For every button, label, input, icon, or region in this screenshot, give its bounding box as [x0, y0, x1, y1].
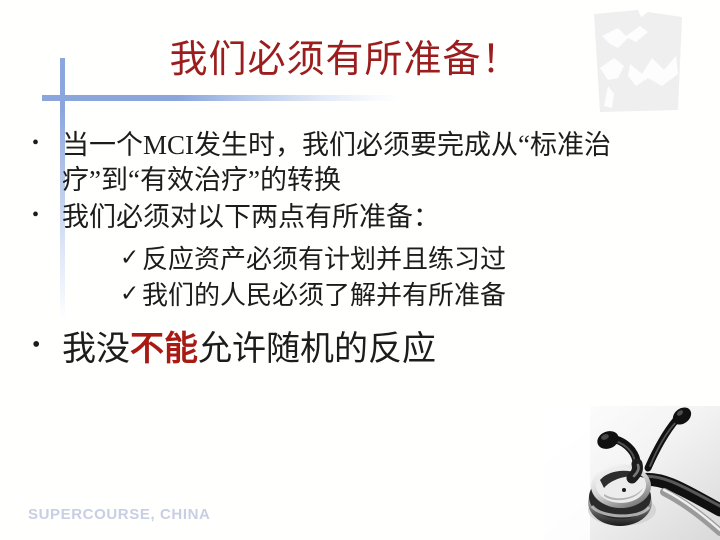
- slide-title: 我们必须有所准备！: [0, 40, 690, 81]
- bullet-item-2: • 我们必须对以下两点有所准备：: [32, 200, 692, 235]
- sub-bullet-text-1: 反应资产必须有计划并且练习过: [142, 242, 692, 277]
- bullet-text-3-before: 我没: [62, 331, 130, 368]
- bullet-text-3-emphasis: 不能: [130, 331, 198, 368]
- bullet-text-2: 我们必须对以下两点有所准备：: [62, 200, 692, 235]
- stethoscope-photo: [544, 406, 720, 540]
- bullet-text-3-after: 允许随机的反应: [198, 331, 436, 368]
- bullet-marker-icon: •: [32, 128, 62, 159]
- sub-bullet-item-1: ✓ 反应资产必须有计划并且练习过: [32, 242, 692, 277]
- sub-bullet-text-2: 我们的人民必须了解并有所准备: [142, 278, 692, 313]
- spacer: [32, 313, 692, 329]
- slide-canvas: 我们必须有所准备！ • 当一个MCI发生时，我们必须要完成从“标准治疗”到“有效…: [0, 0, 720, 540]
- bullet-marker-icon: •: [32, 329, 62, 363]
- bullet-item-1: • 当一个MCI发生时，我们必须要完成从“标准治疗”到“有效治疗”的转换: [32, 128, 692, 198]
- checkmark-icon: ✓: [120, 242, 142, 274]
- cross-horizontal-bar: [42, 95, 402, 101]
- footer-text: SUPERCOURSE, CHINA: [28, 506, 211, 523]
- checkmark-icon: ✓: [120, 278, 142, 310]
- bullet-text-1: 当一个MCI发生时，我们必须要完成从“标准治疗”到“有效治疗”的转换: [62, 128, 692, 198]
- bullet-marker-icon: •: [32, 200, 62, 231]
- sub-bullet-item-2: ✓ 我们的人民必须了解并有所准备: [32, 278, 692, 313]
- bullet-item-3: • 我没不能允许随机的反应: [32, 329, 692, 372]
- bullet-text-3: 我没不能允许随机的反应: [62, 329, 692, 372]
- slide-body: • 当一个MCI发生时，我们必须要完成从“标准治疗”到“有效治疗”的转换 • 我…: [32, 128, 692, 373]
